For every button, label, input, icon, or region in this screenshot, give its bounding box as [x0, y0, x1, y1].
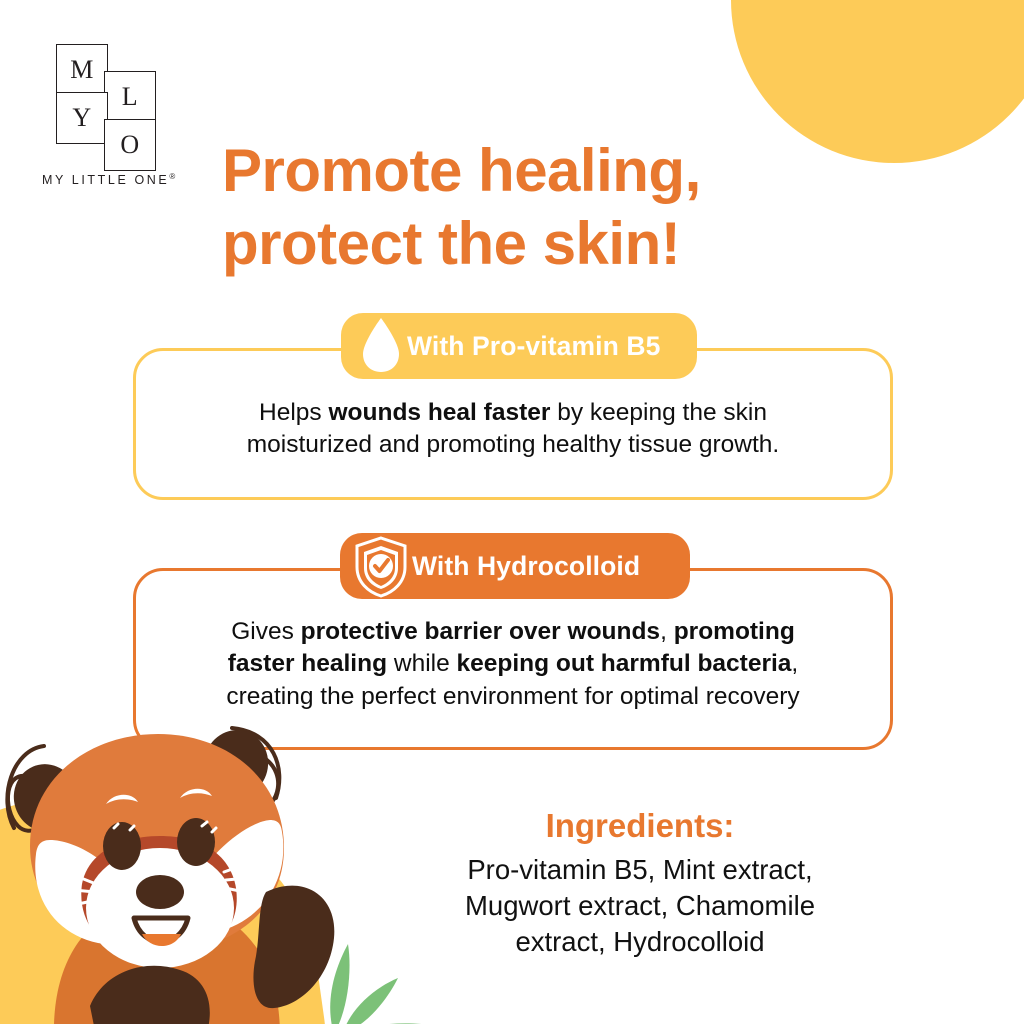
- card-1-line-1-pre: Helps: [259, 399, 328, 426]
- feature-badge-2-label: With Hydrocolloid: [412, 551, 640, 582]
- logo-letter-grid: M L Y O: [56, 44, 176, 152]
- card-2-line-1-mid: ,: [660, 618, 674, 645]
- shield-check-icon: [352, 536, 410, 603]
- water-drop-icon: [355, 314, 407, 381]
- feature-badge-hydrocolloid: With Hydrocolloid: [340, 533, 690, 599]
- card-2-line-2-mid: while: [387, 650, 456, 677]
- registered-trademark-icon: ®: [169, 172, 175, 181]
- feature-badge-pro-vitamin-b5: With Pro-vitamin B5: [341, 313, 697, 379]
- card-2-line-1-bold: protective barrier over wounds: [301, 618, 660, 645]
- logo-letter-o: O: [104, 119, 156, 171]
- page-title: Promote healing, protect the skin!: [222, 134, 862, 280]
- ingredients-line-1: Pro-vitamin B5, Mint extract,: [467, 854, 812, 885]
- card-2-line-2-post: ,: [791, 650, 798, 677]
- logo-wordmark: MY LITTLE ONE®: [42, 172, 175, 187]
- feature-card-2-body: Gives protective barrier over wounds, pr…: [136, 616, 890, 713]
- red-panda-mascot: [0, 706, 364, 1024]
- card-2-line-1-bold-2: promoting: [674, 618, 795, 645]
- ingredients-line-3: extract, Hydrocolloid: [515, 926, 764, 957]
- logo-letter-m: M: [56, 44, 108, 96]
- logo-letter-y: Y: [56, 92, 108, 144]
- ingredients-line-2: Mugwort extract, Chamomile: [465, 890, 815, 921]
- card-2-line-2-bold-2: keeping out harmful bacteria: [457, 650, 792, 677]
- card-1-line-2: moisturized and promoting healthy tissue…: [247, 431, 779, 458]
- page-title-line-2: protect the skin!: [222, 207, 862, 280]
- page-title-line-1: Promote healing,: [222, 137, 701, 204]
- promo-poster: M L Y O MY LITTLE ONE® Promote healing, …: [0, 0, 1024, 1024]
- logo-letter-l: L: [104, 71, 156, 123]
- brand-logo: M L Y O MY LITTLE ONE®: [42, 44, 217, 194]
- card-2-line-1-pre: Gives: [231, 618, 300, 645]
- card-2-line-2-bold: faster healing: [228, 650, 387, 677]
- card-1-line-1-post: by keeping the skin: [550, 399, 767, 426]
- card-1-line-1-bold: wounds heal faster: [328, 399, 550, 426]
- ingredients-title: Ingredients:: [380, 806, 900, 846]
- logo-wordmark-text: MY LITTLE ONE: [42, 173, 169, 187]
- feature-badge-1-label: With Pro-vitamin B5: [407, 331, 660, 362]
- feature-card-1-body: Helps wounds heal faster by keeping the …: [136, 397, 890, 462]
